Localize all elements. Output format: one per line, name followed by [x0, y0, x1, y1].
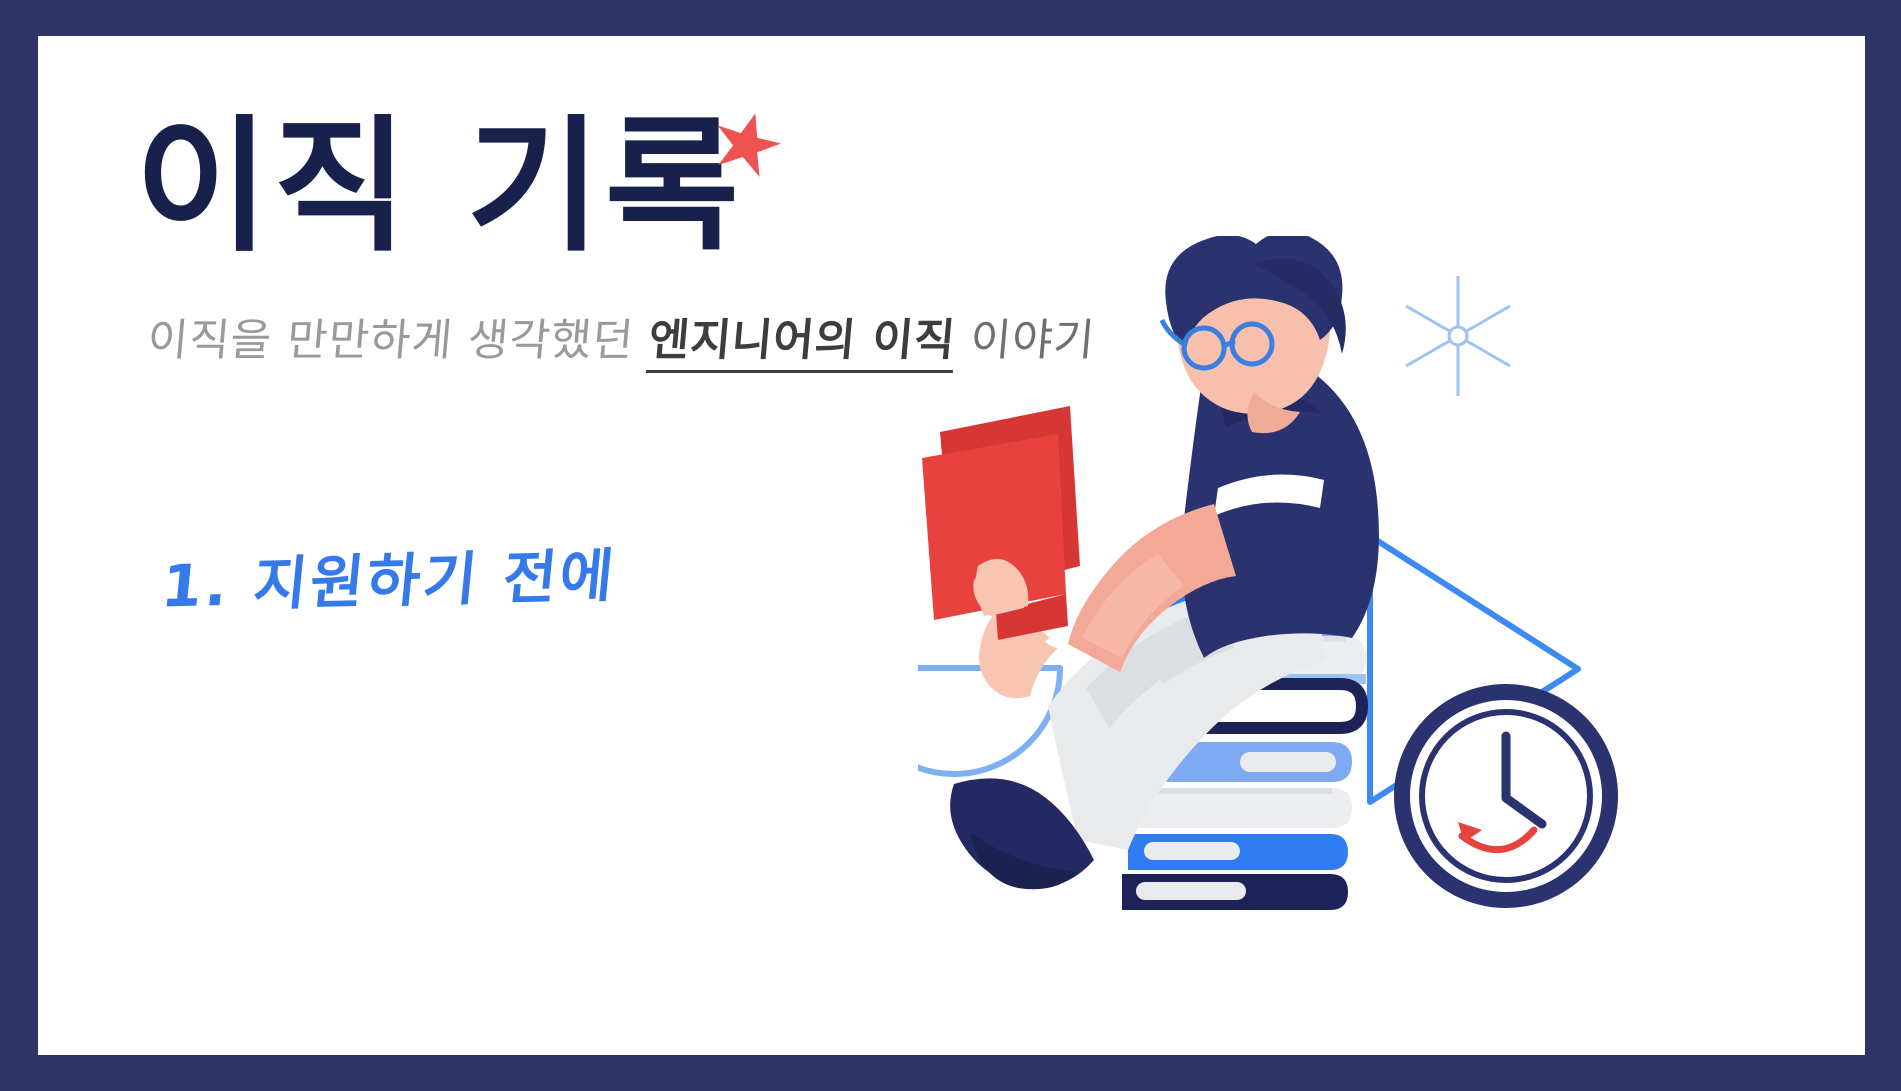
clock-icon — [1394, 684, 1618, 908]
section-heading: 1. 지원하기 전에 — [158, 528, 620, 623]
illustration — [918, 236, 1865, 1055]
slide-canvas: 이직 기록 이직을 만만하게 생각했던 엔지니어의 이직 이야기 1. 지원하기… — [38, 36, 1865, 1055]
snowflake-large-right — [1406, 276, 1510, 396]
page-title: 이직 기록 — [135, 114, 743, 260]
subtitle-lead: 이직을 만만하게 생각했던 — [145, 315, 651, 366]
slide-frame: 이직 기록 이직을 만만하게 생각했던 엔지니어의 이직 이야기 1. 지원하기… — [0, 0, 1901, 1091]
star-icon — [710, 110, 782, 182]
subtitle-emphasis: 엔지니어의 이직 — [646, 315, 958, 373]
red-book-icon — [922, 406, 1080, 640]
